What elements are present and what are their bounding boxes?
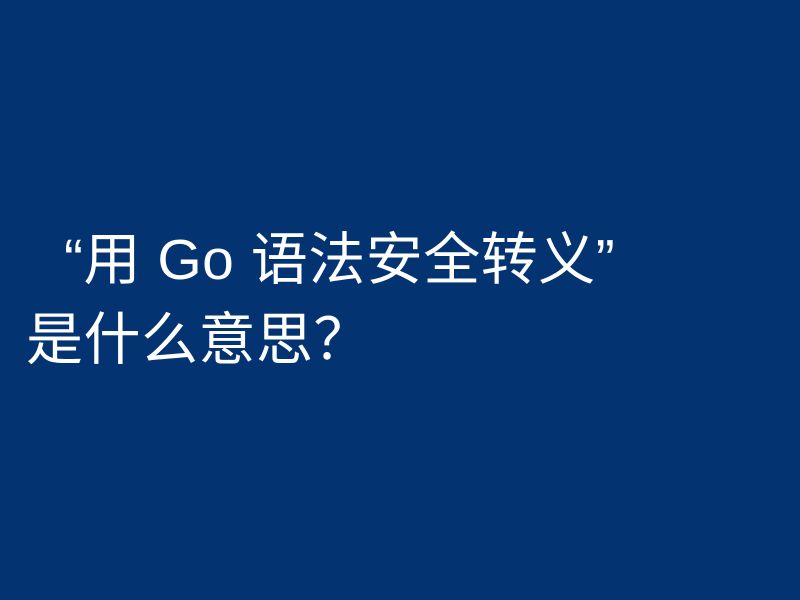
slide-canvas: “用 Go 语法安全转义” 是什么意思？ <box>0 0 800 600</box>
headline-line-2: 是什么意思？ <box>26 300 371 380</box>
headline-line-1: “用 Go 语法安全转义” <box>26 220 615 300</box>
headline-text-block: “用 Go 语法安全转义” 是什么意思？ <box>0 0 800 600</box>
